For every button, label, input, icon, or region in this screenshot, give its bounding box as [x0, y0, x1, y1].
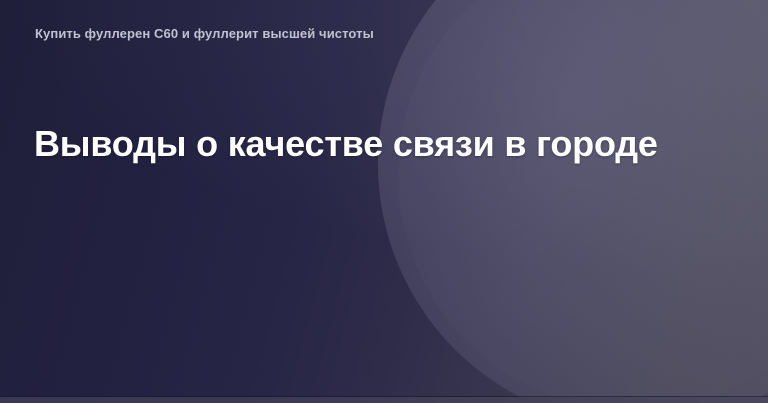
hero-banner: Купить фуллерен C60 и фуллерит высшей чи…	[0, 0, 768, 403]
page-title: Выводы о качестве связи в городе	[34, 122, 658, 166]
site-eyebrow-text: Купить фуллерен C60 и фуллерит высшей чи…	[35, 26, 374, 42]
bottom-accent-strip	[0, 397, 768, 403]
hero-content: Купить фуллерен C60 и фуллерит высшей чи…	[0, 0, 768, 403]
